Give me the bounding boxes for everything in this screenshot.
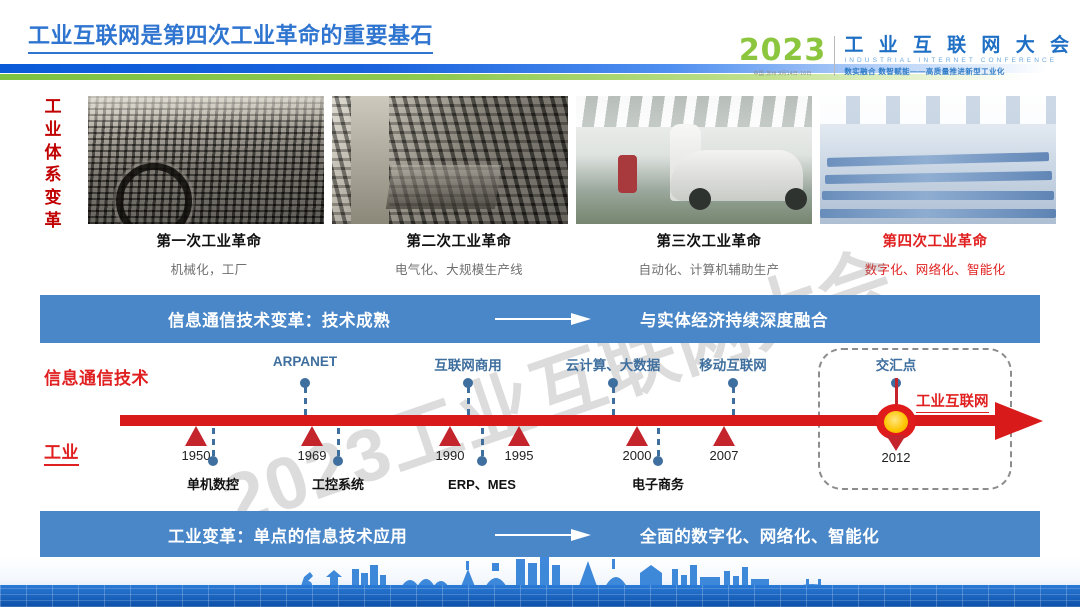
ict-event-label: ARPANET: [273, 354, 337, 369]
footer-grid: [0, 585, 1080, 607]
pin-stem-icon: [212, 428, 215, 456]
timeline-axis: [120, 415, 1000, 426]
pin-stem-icon: [304, 387, 307, 415]
banner-ict-transformation: 信息通信技术变革：技术成熟 与实体经济持续深度融合: [40, 295, 1040, 343]
banner-left-text: 工业变革：单点的信息技术应用: [168, 523, 407, 547]
industry-marker-1950: [185, 426, 207, 446]
slide-root: 工业互联网是第四次工业革命的重要基石 2023 中国·苏州 9月14日-16日 …: [0, 0, 1080, 607]
timeline-label-ict: 信息通信技术: [44, 364, 149, 389]
pin-dot-icon: [477, 456, 487, 466]
caption-revolution-1: 第一次工业革命 机械化，工厂: [88, 230, 330, 278]
photo-ford-assembly-line: [332, 96, 568, 224]
ceiling-rails: [576, 96, 812, 127]
industry-tech-label: ERP、MES: [448, 474, 516, 493]
industry-tech-label: 工控系统: [312, 474, 364, 493]
convergence-pin-label: 交汇点: [876, 354, 917, 374]
timeline-label-industry: 工业: [44, 438, 79, 466]
conference-logo: 2023 中国·苏州 9月14日-16日 工 业 互 联 网 大 会 INDUS…: [739, 36, 1074, 80]
logo-tagline: 数实融合 数智赋能——高质量推进新型工业化: [844, 66, 1074, 77]
convergence-stem-icon: [895, 378, 898, 406]
photo-smart-electronics-workshop: [820, 96, 1056, 224]
pin-stem-icon: [732, 387, 735, 415]
caption-subtitle: 机械化，工厂: [88, 259, 330, 278]
workbench-row-2: [825, 171, 1052, 184]
row-label-char-3: 体: [40, 142, 66, 165]
page-title: 工业互联网是第四次工业革命的重要基石: [28, 18, 433, 54]
pin-stem-icon: [337, 428, 340, 456]
ict-event-label: 互联网商用: [434, 354, 502, 374]
caption-title: 第一次工业革命: [88, 230, 330, 251]
pin-dot-icon: [333, 456, 343, 466]
ict-event-label: 移动互联网: [699, 354, 767, 374]
pin-stem-icon: [481, 428, 484, 456]
industry-tech-label: 电子商务: [632, 474, 684, 493]
industry-year-label: 1990: [420, 448, 480, 463]
logo-year-block: 2023 中国·苏州 9月14日-16日: [739, 36, 835, 77]
pin-dot-icon: [653, 456, 663, 466]
timeline-arrow-icon: [995, 402, 1043, 440]
caption-revolution-3: 第三次工业革命 自动化、计算机辅助生产: [588, 230, 830, 278]
banner-right-text: 与实体经济持续深度融合: [640, 307, 828, 331]
row-label-char-1: 工: [40, 96, 66, 119]
convergence-triangle: [886, 435, 906, 451]
worker-red: [618, 155, 637, 193]
right-arrow-icon: [495, 528, 593, 542]
industry-year-label: 1995: [489, 448, 549, 463]
workbench-row-4: [820, 209, 1056, 218]
row-label-char-6: 革: [40, 210, 66, 233]
caption-revolution-4: 第四次工业革命 数字化、网络化、智能化: [814, 230, 1056, 278]
industry-marker-1990: [439, 426, 461, 446]
caption-title: 第三次工业革命: [588, 230, 830, 251]
row-label-char-2: 业: [40, 119, 66, 142]
pin-stem-icon: [612, 387, 615, 415]
caption-title: 第二次工业革命: [338, 230, 580, 251]
logo-year: 2023: [739, 36, 827, 66]
caption-revolution-2: 第二次工业革命 电气化、大规模生产线: [338, 230, 580, 278]
industry-marker-1969: [301, 426, 323, 446]
timeline: 信息通信技术 工业 ARPANET 互联网商用 云计算、大数据 移动互联网: [0, 350, 1080, 500]
ict-event-label: 云计算、大数据: [566, 354, 661, 374]
industrial-internet-callout: 工业互联网: [916, 390, 989, 413]
banner-left-text: 信息通信技术变革：技术成熟: [168, 307, 390, 331]
logo-name-en: INDUSTRIAL INTERNET CONFERENCE: [844, 57, 1074, 64]
industry-marker-2007: [713, 426, 735, 446]
industry-tech-label: 单机数控: [187, 474, 239, 493]
car-body: [670, 150, 802, 201]
logo-name-block: 工 业 互 联 网 大 会 INDUSTRIAL INTERNET CONFER…: [844, 36, 1074, 77]
convergence-year-label: 2012: [866, 450, 926, 465]
footer-cityscape: [0, 557, 1080, 607]
pin-dot-icon: [208, 456, 218, 466]
caption-subtitle: 自动化、计算机辅助生产: [588, 259, 830, 278]
caption-title: 第四次工业革命: [814, 230, 1056, 251]
workbench-row-3: [822, 191, 1053, 200]
row-label-char-5: 变: [40, 187, 66, 210]
row-label-char-4: 系: [40, 164, 66, 187]
logo-name-cn: 工 业 互 联 网 大 会: [844, 36, 1074, 56]
revolution-photo-row: [88, 96, 1056, 224]
ceiling-lights: [820, 96, 1056, 124]
convergence-node-icon: [876, 404, 916, 440]
industry-marker-1995: [508, 426, 530, 446]
banner-industry-transformation: 工业变革：单点的信息技术应用 全面的数字化、网络化、智能化: [40, 511, 1040, 559]
logo-divider-icon: [834, 36, 835, 76]
caption-subtitle: 数字化、网络化、智能化: [814, 259, 1056, 278]
workbench-row-1: [827, 152, 1049, 167]
industry-year-label: 2007: [694, 448, 754, 463]
banner-right-text: 全面的数字化、网络化、智能化: [640, 523, 879, 547]
caption-subtitle: 电气化、大规模生产线: [338, 259, 580, 278]
logo-date: 中国·苏州 9月14日-16日: [754, 70, 812, 77]
row-label-industry-system: 工 业 体 系 变 革: [40, 96, 66, 233]
convergence-core: [884, 411, 908, 433]
pin-stem-icon: [467, 387, 470, 415]
right-arrow-icon: [495, 312, 593, 326]
industry-marker-2000: [626, 426, 648, 446]
pin-stem-icon: [657, 428, 660, 456]
photo-automotive-production-line: [576, 96, 812, 224]
photo-old-factory-machinery: [88, 96, 324, 224]
